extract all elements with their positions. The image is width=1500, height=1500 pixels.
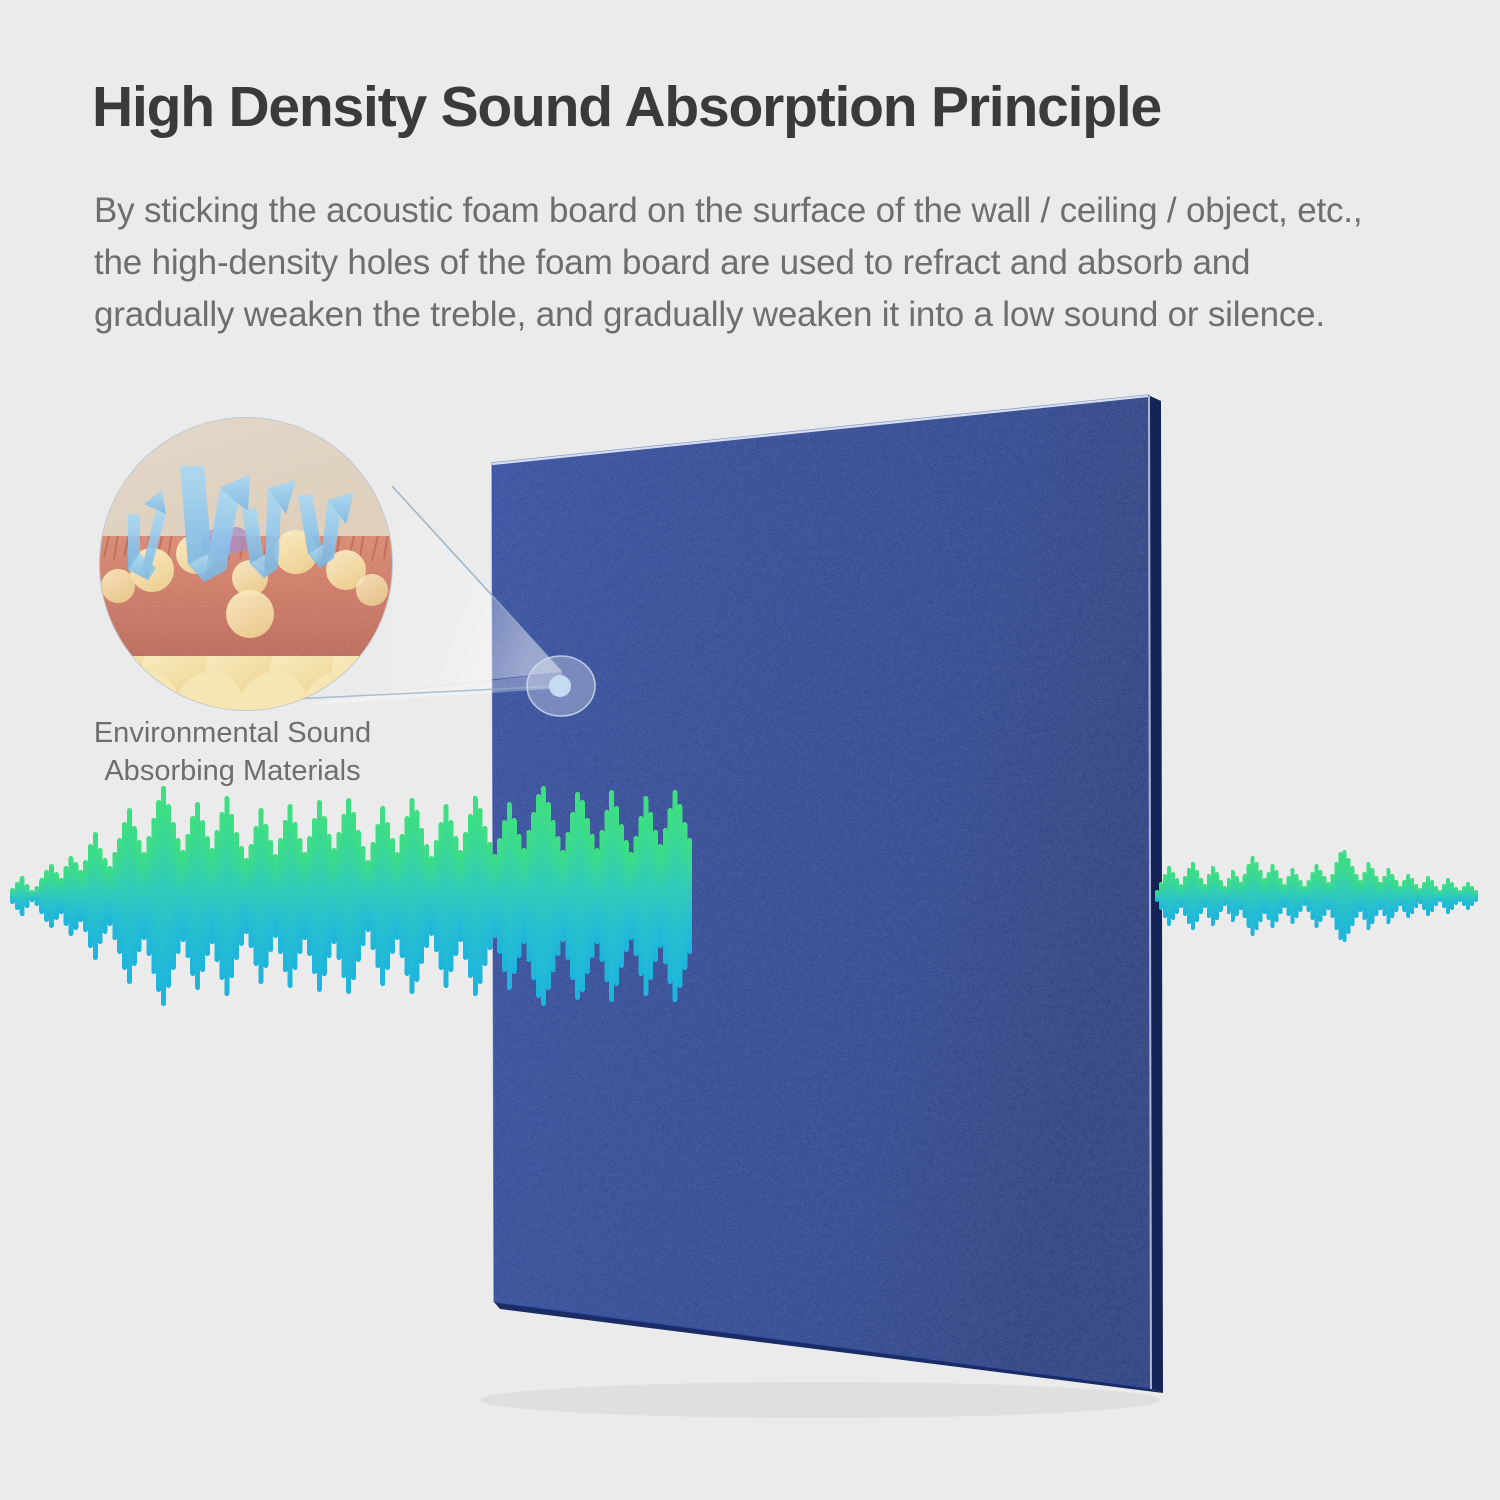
waveform-bar bbox=[1287, 876, 1291, 916]
waveform-bar bbox=[1382, 876, 1386, 916]
waveform-bar bbox=[171, 822, 176, 970]
waveform-bar bbox=[1450, 882, 1454, 910]
waveform-bar bbox=[556, 836, 561, 956]
waveform-bar bbox=[1267, 872, 1271, 920]
waveform-bar bbox=[1422, 882, 1426, 910]
waveform-bar bbox=[327, 834, 332, 958]
waveform-bar bbox=[1223, 886, 1227, 906]
waveform-bar bbox=[1295, 874, 1299, 918]
waveform-bar bbox=[400, 834, 405, 958]
waveform-bar bbox=[1315, 864, 1319, 928]
waveform-bar bbox=[590, 834, 595, 958]
waveform-bar bbox=[88, 844, 93, 948]
waveform-bar bbox=[595, 848, 600, 944]
waveform-bar bbox=[283, 820, 288, 972]
waveform-bar bbox=[565, 832, 570, 960]
inset-caption-line-1: Environmental Sound bbox=[60, 714, 405, 752]
waveform-bar bbox=[1390, 874, 1394, 918]
inset-caption: Environmental Sound Absorbing Materials bbox=[60, 714, 405, 791]
waveform-bar bbox=[512, 818, 517, 974]
waveform-bar bbox=[1406, 874, 1410, 918]
waveform-bar bbox=[132, 826, 137, 966]
panel-bottom-edge bbox=[494, 1302, 1163, 1393]
waveform-bar bbox=[117, 838, 122, 954]
waveform-bar bbox=[473, 796, 478, 996]
waveform-bar bbox=[1434, 886, 1438, 906]
waveform-bar bbox=[385, 822, 390, 970]
waveform-bar bbox=[1418, 888, 1422, 904]
waveform-bar bbox=[1235, 876, 1239, 916]
waveform-bar bbox=[492, 854, 497, 938]
waveform-bar bbox=[1171, 872, 1175, 920]
waveform-bar bbox=[1283, 884, 1287, 908]
waveform-bar bbox=[122, 822, 127, 970]
waveform-bar bbox=[249, 844, 254, 948]
waveform-bar bbox=[200, 820, 205, 972]
waveform-bar bbox=[1211, 866, 1215, 926]
waveform-bar bbox=[288, 804, 293, 988]
waveform-bar bbox=[34, 886, 39, 906]
waveform-bar bbox=[176, 838, 181, 954]
waveform-bar bbox=[336, 832, 341, 960]
description-paragraph: By sticking the acoustic foam board on t… bbox=[94, 185, 1394, 340]
page-title: High Density Sound Absorption Principle bbox=[92, 78, 1422, 137]
waveform-bar bbox=[190, 816, 195, 976]
waveform-bar bbox=[663, 828, 668, 964]
waveform-bar bbox=[429, 856, 434, 936]
waveform-bar bbox=[332, 848, 337, 944]
waveform-bar bbox=[541, 786, 546, 1006]
waveform-bar bbox=[307, 836, 312, 956]
panel-front-face bbox=[492, 395, 1150, 1388]
waveform-bar bbox=[1187, 868, 1191, 924]
waveform-bar bbox=[502, 820, 507, 972]
waveform-bar bbox=[1394, 880, 1398, 912]
waveform-bar bbox=[341, 814, 346, 978]
waveform-bar bbox=[1299, 880, 1303, 912]
waveform-bar bbox=[73, 862, 78, 930]
waveform-bar bbox=[1167, 866, 1171, 926]
waveform-bar bbox=[1291, 868, 1295, 924]
waveform-bar bbox=[551, 820, 556, 972]
waveform-bar bbox=[517, 834, 522, 958]
waveform-bar bbox=[1195, 870, 1199, 922]
waveform-bar bbox=[1326, 882, 1330, 910]
waveform-bar bbox=[25, 884, 30, 908]
waveform-bar bbox=[478, 808, 483, 984]
waveform-bar bbox=[1366, 862, 1370, 930]
waveform-bar bbox=[1175, 878, 1179, 914]
waveform-bar bbox=[468, 814, 473, 978]
waveform-bar bbox=[536, 794, 541, 998]
waveform-bar bbox=[424, 844, 429, 948]
waveform-bar bbox=[1470, 886, 1474, 906]
panel-top-highlight bbox=[492, 396, 1148, 464]
waveform-bar bbox=[254, 826, 259, 966]
waveform-bar bbox=[1430, 880, 1434, 912]
waveform-bar bbox=[1159, 882, 1163, 910]
waveform-bar bbox=[44, 870, 49, 922]
waveform-bar bbox=[59, 878, 64, 914]
waveform-bar bbox=[614, 806, 619, 986]
waveform-bar bbox=[497, 838, 502, 954]
waveform-bar bbox=[107, 866, 112, 926]
waveform-bar bbox=[560, 850, 565, 942]
callout-cone bbox=[392, 487, 562, 690]
waveform-bar bbox=[151, 818, 156, 974]
waveform-bar bbox=[1207, 874, 1211, 918]
waveform-bar bbox=[1346, 858, 1350, 934]
waveform-bar bbox=[258, 808, 263, 984]
waveform-bar bbox=[54, 872, 59, 920]
panel-right-highlight bbox=[1149, 396, 1151, 1389]
waveform-bar bbox=[273, 854, 278, 938]
panel-outline bbox=[492, 395, 1150, 1388]
waveform-bar bbox=[1454, 887, 1458, 905]
waveform-bar bbox=[127, 808, 132, 984]
waveform-bar bbox=[112, 852, 117, 940]
waveform-bar bbox=[1259, 870, 1263, 922]
waveform-bar bbox=[1370, 868, 1374, 924]
waveform-bar bbox=[1279, 878, 1283, 914]
waveform-bar bbox=[448, 820, 453, 972]
waveform-bar bbox=[380, 806, 385, 986]
waveform-bar bbox=[599, 830, 604, 962]
waveform-bar bbox=[463, 832, 468, 960]
waveform-bar bbox=[224, 796, 229, 996]
waveform-bar bbox=[1275, 870, 1279, 922]
waveform-bar bbox=[370, 842, 375, 950]
waveform-bar bbox=[1474, 890, 1478, 902]
waveform-bar bbox=[1386, 868, 1390, 924]
waveform-bar bbox=[1426, 876, 1430, 916]
waveform-bar bbox=[585, 818, 590, 974]
waveform-bar bbox=[619, 824, 624, 968]
waveform-bar bbox=[263, 824, 268, 968]
waveform-bar bbox=[483, 826, 488, 966]
waveform-bar bbox=[1303, 886, 1307, 906]
waveform-bar bbox=[166, 804, 171, 988]
waveform-bar bbox=[434, 840, 439, 952]
waveform-bar bbox=[1199, 878, 1203, 914]
waveform-bar bbox=[103, 858, 108, 934]
waveform-bar bbox=[687, 838, 692, 954]
waveform-bar bbox=[78, 870, 83, 922]
waveform-bar bbox=[68, 856, 73, 936]
waveform-bar bbox=[1179, 884, 1183, 908]
waveform-bar bbox=[1247, 864, 1251, 928]
waveform-bar bbox=[215, 830, 220, 962]
waveform-bar bbox=[526, 830, 531, 962]
waveform-bar bbox=[1362, 872, 1366, 920]
waveform-incoming bbox=[10, 786, 692, 1006]
waveform-bar bbox=[575, 792, 580, 1000]
waveform-bar bbox=[1155, 890, 1159, 902]
waveform-bar bbox=[629, 852, 634, 940]
waveform-bar bbox=[244, 858, 249, 934]
waveform-bar bbox=[409, 798, 414, 994]
waveform-bar bbox=[156, 800, 161, 992]
waveform-bar bbox=[1318, 870, 1322, 922]
waveform-bar bbox=[1402, 880, 1406, 912]
waveform-bar bbox=[185, 834, 190, 958]
callout-target-marker bbox=[527, 656, 595, 716]
waveform-bar bbox=[39, 878, 44, 914]
waveform-bar bbox=[351, 812, 356, 980]
waveform-bar bbox=[1466, 882, 1470, 910]
waveform-bar bbox=[1311, 872, 1315, 920]
waveform-bar bbox=[1239, 882, 1243, 910]
waveform-bar bbox=[1446, 878, 1450, 914]
waveform-bar bbox=[142, 852, 147, 940]
waveform-bar bbox=[405, 816, 410, 976]
waveform-bar bbox=[1350, 866, 1354, 926]
waveform-bar bbox=[624, 840, 629, 952]
waveform-bar bbox=[1334, 862, 1338, 930]
waveform-bar bbox=[390, 838, 395, 954]
waveform-bar bbox=[268, 840, 273, 952]
waveform-bar bbox=[444, 804, 449, 988]
waveform-bar bbox=[1203, 884, 1207, 908]
waveform-bar bbox=[570, 812, 575, 980]
waveform-bar bbox=[1271, 864, 1275, 928]
waveform-bar bbox=[609, 790, 614, 1002]
waveform-bar bbox=[229, 814, 234, 978]
waveform-bar bbox=[668, 808, 673, 984]
waveform-bar bbox=[1163, 874, 1167, 918]
waveform-bar bbox=[1255, 862, 1259, 930]
waveform-bar bbox=[682, 822, 687, 970]
waveform-bar bbox=[487, 842, 492, 950]
waveform-bar bbox=[1251, 856, 1255, 936]
waveform-bar bbox=[1354, 874, 1358, 918]
waveform-bar bbox=[580, 800, 585, 992]
waveform-bar bbox=[1414, 884, 1418, 908]
waveform-bar bbox=[64, 866, 69, 926]
waveform-bar bbox=[20, 876, 25, 916]
waveform-bar bbox=[1215, 872, 1219, 920]
waveform-bar bbox=[546, 802, 551, 990]
waveform-bar bbox=[161, 786, 166, 1006]
waveform-bar bbox=[658, 844, 663, 948]
foam-microstructure-closeup-icon bbox=[100, 418, 392, 710]
waveform-bar bbox=[522, 848, 527, 944]
waveform-bar bbox=[83, 860, 88, 932]
microstructure-inset bbox=[100, 418, 392, 710]
waveform-bar bbox=[10, 888, 15, 904]
waveform-bar bbox=[673, 790, 678, 1002]
waveform-bar bbox=[1442, 884, 1446, 908]
waveform-bar bbox=[653, 830, 658, 962]
waveform-bar bbox=[1398, 886, 1402, 906]
inset-caption-line-2: Absorbing Materials bbox=[60, 752, 405, 790]
waveform-bar bbox=[322, 816, 327, 976]
waveform-bar bbox=[634, 836, 639, 956]
waveform-bar bbox=[419, 828, 424, 964]
waveform-bar bbox=[458, 850, 463, 942]
waveform-bar bbox=[1183, 876, 1187, 916]
waveform-bar bbox=[210, 848, 215, 944]
waveform-bar bbox=[366, 860, 371, 932]
waveform-bar bbox=[234, 832, 239, 960]
waveform-bar bbox=[278, 838, 283, 954]
waveform-bar bbox=[414, 810, 419, 982]
waveform-bar bbox=[638, 816, 643, 976]
waveform-bar bbox=[439, 822, 444, 970]
waveform-bar bbox=[15, 882, 20, 910]
waveform-bar bbox=[356, 830, 361, 962]
callout-line-upper bbox=[392, 486, 561, 671]
waveform-bar bbox=[93, 832, 98, 960]
waveform-bar bbox=[604, 810, 609, 982]
waveform-bar bbox=[1438, 890, 1442, 902]
waveform-bar bbox=[1227, 878, 1231, 914]
waveform-bar bbox=[29, 890, 34, 902]
waveform-bar bbox=[1231, 870, 1235, 922]
callout-target-dot bbox=[549, 675, 571, 697]
waveform-bar bbox=[1458, 890, 1462, 902]
waveform-bar bbox=[195, 802, 200, 990]
waveform-bar bbox=[648, 812, 653, 980]
waveform-bar bbox=[219, 812, 224, 980]
waveform-bar bbox=[1243, 874, 1247, 918]
waveform-bar bbox=[507, 802, 512, 990]
waveform-bar bbox=[453, 836, 458, 956]
waveform-bar bbox=[181, 850, 186, 942]
waveform-bar bbox=[1322, 876, 1326, 916]
waveform-bar bbox=[361, 846, 366, 946]
microstructure-circle bbox=[100, 418, 392, 710]
waveform-bar bbox=[49, 864, 54, 928]
waveform-bar bbox=[677, 804, 682, 988]
waveform-bar bbox=[1263, 878, 1267, 914]
waveform-bar bbox=[98, 848, 103, 944]
waveform-bar bbox=[643, 796, 648, 996]
waveform-outgoing bbox=[1155, 850, 1478, 942]
waveform-bar bbox=[1330, 874, 1334, 918]
panel-side-face bbox=[1148, 395, 1163, 1393]
waveform-bar bbox=[1378, 882, 1382, 910]
waveform-bar bbox=[1462, 886, 1466, 906]
waveform-bar bbox=[205, 836, 210, 956]
waveform-bar bbox=[312, 818, 317, 974]
waveform-bar bbox=[1358, 880, 1362, 912]
waveform-bar bbox=[1338, 852, 1342, 940]
waveform-bar bbox=[1342, 850, 1346, 942]
infographic-canvas: High Density Sound Absorption Principle … bbox=[0, 0, 1500, 1500]
waveform-bar bbox=[1374, 876, 1378, 916]
waveform-bar bbox=[317, 800, 322, 992]
waveform-bar bbox=[1191, 862, 1195, 930]
waveform-bar bbox=[297, 838, 302, 954]
waveform-bar bbox=[346, 798, 351, 994]
waveform-bar bbox=[1410, 878, 1414, 914]
waveform-bar bbox=[395, 852, 400, 940]
waveform-bar bbox=[146, 836, 151, 956]
waveform-bar bbox=[1307, 880, 1311, 912]
waveform-bar bbox=[137, 840, 142, 952]
waveform-bar bbox=[531, 812, 536, 980]
waveform-bar bbox=[1219, 880, 1223, 912]
waveform-bar bbox=[375, 824, 380, 968]
waveform-bar bbox=[302, 852, 307, 940]
waveform-bar bbox=[293, 822, 298, 970]
waveform-bar bbox=[239, 846, 244, 946]
